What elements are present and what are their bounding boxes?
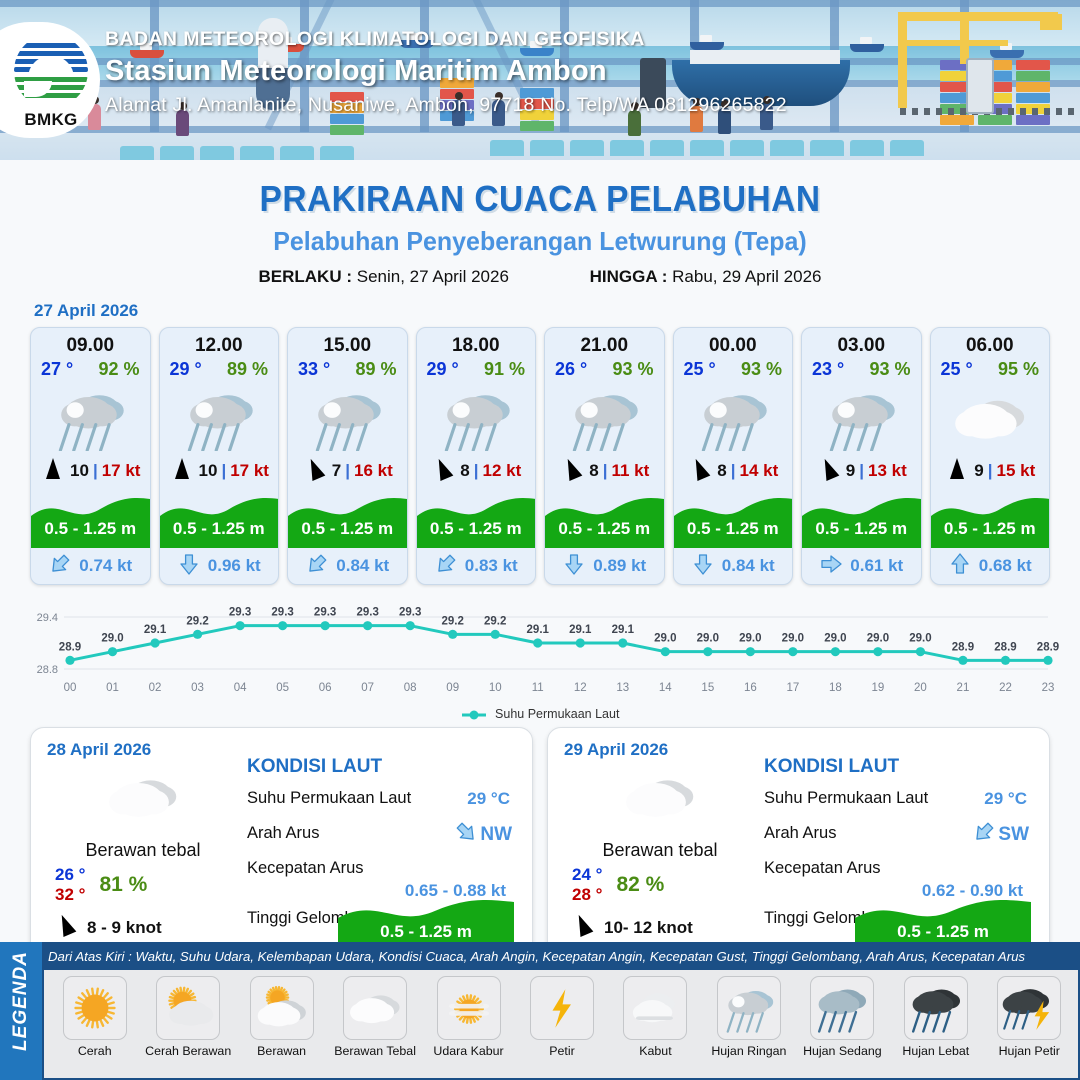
wave-height-block: 0.5 - 1.25 m bbox=[417, 486, 536, 548]
legend-item-label: Hujan Sedang bbox=[796, 1044, 889, 1058]
weather-icon-berawan-tebal bbox=[931, 380, 1050, 456]
legend-icon-hujan-petir bbox=[997, 976, 1061, 1040]
svg-text:21: 21 bbox=[957, 682, 970, 694]
card-temperature: 27 ° bbox=[41, 359, 73, 380]
svg-text:29.1: 29.1 bbox=[612, 624, 635, 636]
current-speed: 0.84 kt bbox=[336, 556, 389, 576]
wave-height-block: 0.5 - 1.25 m bbox=[288, 486, 407, 548]
wind-speed: 8 bbox=[460, 461, 469, 481]
header-address: Alamat Jl. Amanlanite, Nusaniwe, Ambon, … bbox=[105, 94, 787, 117]
hingga-value: Rabu, 29 April 2026 bbox=[672, 267, 821, 286]
gust-speed: 16 kt bbox=[354, 461, 393, 481]
wind-direction-arrow-icon bbox=[944, 459, 970, 484]
card-humidity: 91 % bbox=[484, 359, 525, 380]
legend-icon-hujan-sedang bbox=[810, 976, 874, 1040]
current-direction-arrow-icon bbox=[305, 552, 329, 581]
sea-condition-title: KONDISI LAUT bbox=[247, 756, 516, 778]
svg-text:29.0: 29.0 bbox=[654, 633, 676, 645]
card-temperature: 23 ° bbox=[812, 359, 844, 380]
weather-icon-hujan-ringan bbox=[802, 380, 921, 456]
current-direction-arrow-icon bbox=[562, 552, 586, 581]
svg-text:17: 17 bbox=[786, 682, 799, 694]
daily-temp-max: 32 ° bbox=[55, 885, 85, 905]
legend-item-label: Hujan Ringan bbox=[702, 1044, 795, 1058]
card-time: 06.00 bbox=[931, 328, 1050, 357]
legend-icon-berawan-tebal bbox=[343, 976, 407, 1040]
weather-icon-hujan-ringan bbox=[545, 380, 664, 456]
page-subtitle: Pelabuhan Penyeberangan Letwurung (Tepa) bbox=[22, 226, 1059, 257]
section-date: 27 April 2026 bbox=[34, 301, 1080, 321]
wind-speed: 9 bbox=[974, 461, 983, 481]
svg-text:28.9: 28.9 bbox=[952, 641, 974, 653]
daily-temp-min: 26 ° bbox=[55, 865, 85, 885]
wind-speed: 10 bbox=[199, 461, 218, 481]
daily-wave-block: 0.5 - 1.25 m bbox=[338, 890, 514, 950]
wind-direction-arrow-icon bbox=[40, 459, 66, 484]
legend-item-label: Berawan Tebal bbox=[328, 1044, 421, 1058]
header-station: Stasiun Meteorologi Maritim Ambon bbox=[105, 55, 787, 88]
current-direction-arrow-icon bbox=[454, 820, 478, 849]
wind-direction-arrow-icon bbox=[570, 915, 596, 940]
current-direction-value: SW bbox=[998, 824, 1029, 846]
current-direction-arrow-icon bbox=[972, 820, 996, 849]
legend-bar: LEGENDA Dari Atas Kiri : Waktu, Suhu Uda… bbox=[0, 942, 1080, 1080]
bmkg-logo-circle bbox=[14, 34, 88, 108]
card-temperature: 29 ° bbox=[170, 359, 202, 380]
wind-direction-arrow-icon bbox=[559, 459, 585, 484]
page-title: PRAKIRAAN CUACA PELABUHAN bbox=[38, 178, 1042, 220]
legend-icon-petir bbox=[530, 976, 594, 1040]
svg-text:12: 12 bbox=[574, 682, 587, 694]
legend-item: Hujan Petir bbox=[983, 976, 1076, 1058]
daily-wind-speed: 8 - 9 knot bbox=[87, 918, 162, 938]
svg-text:07: 07 bbox=[361, 682, 374, 694]
berlaku-value: Senin, 27 April 2026 bbox=[357, 267, 509, 286]
daily-condition: Berawan tebal bbox=[564, 840, 756, 861]
weather-icon-hujan-ringan bbox=[160, 380, 279, 456]
wave-height-value: 0.5 - 1.25 m bbox=[545, 519, 664, 539]
current-speed: 0.89 kt bbox=[593, 556, 646, 576]
gust-speed: 14 kt bbox=[739, 461, 778, 481]
legend-item-label: Kabut bbox=[609, 1044, 702, 1058]
hourly-card: 00.00 25 ° 93 % 8 | 14 kt 0.5 - 1.25 m bbox=[673, 327, 794, 585]
svg-text:29.2: 29.2 bbox=[442, 615, 464, 627]
wave-height-block: 0.5 - 1.25 m bbox=[802, 486, 921, 548]
hingga-label: HINGGA : bbox=[590, 267, 668, 286]
gust-speed: 11 kt bbox=[611, 461, 649, 481]
card-humidity: 95 % bbox=[998, 359, 1039, 380]
current-direction-arrow-icon bbox=[819, 552, 843, 581]
legend-items: Cerah Cerah Berawan Berawan Berawan Teba… bbox=[44, 970, 1078, 1078]
hourly-card: 12.00 29 ° 89 % 10 | 17 kt 0.5 - 1.25 m bbox=[159, 327, 280, 585]
legend-icon-hujan-ringan bbox=[717, 976, 781, 1040]
current-speed-label: Kecepatan Arus bbox=[247, 859, 364, 877]
legend-icon-cerah-berawan bbox=[156, 976, 220, 1040]
daily-wave-value: 0.5 - 1.25 m bbox=[855, 922, 1031, 942]
svg-text:28.9: 28.9 bbox=[1037, 641, 1059, 653]
wind-separator: | bbox=[474, 461, 479, 481]
wind-speed: 8 bbox=[589, 461, 598, 481]
wave-height-block: 0.5 - 1.25 m bbox=[160, 486, 279, 548]
hourly-card: 21.00 26 ° 93 % 8 | 11 kt 0.5 - 1.25 m bbox=[544, 327, 665, 585]
legend-icon-kabut bbox=[623, 976, 687, 1040]
svg-text:16: 16 bbox=[744, 682, 757, 694]
legend-icon-cerah bbox=[63, 976, 127, 1040]
card-humidity: 89 % bbox=[227, 359, 268, 380]
weather-icon-hujan-ringan bbox=[674, 380, 793, 456]
legend-icon-berawan bbox=[250, 976, 314, 1040]
chart-legend-label: Suhu Permukaan Laut bbox=[495, 707, 619, 721]
svg-text:09: 09 bbox=[446, 682, 459, 694]
svg-text:19: 19 bbox=[872, 682, 885, 694]
weather-icon-berawan-tebal bbox=[47, 766, 239, 828]
card-humidity: 93 % bbox=[612, 359, 653, 380]
wind-direction-arrow-icon bbox=[687, 459, 713, 484]
current-direction-arrow-icon bbox=[691, 552, 715, 581]
legend-icon-udara-kabur bbox=[437, 976, 501, 1040]
legend-item-label: Cerah Berawan bbox=[141, 1044, 234, 1058]
svg-text:10: 10 bbox=[489, 682, 502, 694]
wind-separator: | bbox=[731, 461, 736, 481]
card-time: 12.00 bbox=[160, 328, 279, 357]
card-temperature: 25 ° bbox=[684, 359, 716, 380]
legend-item: Hujan Lebat bbox=[889, 976, 982, 1058]
card-temperature: 25 ° bbox=[941, 359, 973, 380]
wind-speed: 7 bbox=[332, 461, 341, 481]
daily-humidity: 82 % bbox=[616, 873, 664, 897]
svg-text:15: 15 bbox=[701, 682, 714, 694]
card-humidity: 93 % bbox=[741, 359, 782, 380]
svg-text:18: 18 bbox=[829, 682, 842, 694]
daily-wave-block: 0.5 - 1.25 m bbox=[855, 890, 1031, 950]
legend-item-label: Petir bbox=[515, 1044, 608, 1058]
wind-speed: 10 bbox=[70, 461, 89, 481]
legend-item-label: Hujan Petir bbox=[983, 1044, 1076, 1058]
svg-text:29.2: 29.2 bbox=[186, 615, 208, 627]
svg-text:04: 04 bbox=[234, 682, 247, 694]
card-time: 21.00 bbox=[545, 328, 664, 357]
current-direction-label: Arah Arus bbox=[247, 824, 319, 842]
card-time: 03.00 bbox=[802, 328, 921, 357]
wind-separator: | bbox=[603, 461, 608, 481]
card-time: 09.00 bbox=[31, 328, 150, 357]
card-humidity: 92 % bbox=[98, 359, 139, 380]
svg-text:29.0: 29.0 bbox=[739, 633, 761, 645]
card-time: 15.00 bbox=[288, 328, 407, 357]
svg-text:28.9: 28.9 bbox=[59, 641, 81, 653]
hourly-card: 06.00 25 ° 95 % 9 | 15 kt 0.5 - 1.25 m bbox=[930, 327, 1051, 585]
berlaku-label: BERLAKU : bbox=[259, 267, 353, 286]
daily-forecast-card: 28 April 2026 Berawan tebal 26 ° 32 ° 81… bbox=[30, 727, 533, 967]
svg-text:29.3: 29.3 bbox=[271, 607, 293, 619]
weather-icon-hujan-ringan bbox=[417, 380, 536, 456]
gust-speed: 15 kt bbox=[996, 461, 1035, 481]
sea-condition-title: KONDISI LAUT bbox=[764, 756, 1033, 778]
svg-text:20: 20 bbox=[914, 682, 927, 694]
wind-direction-arrow-icon bbox=[816, 459, 842, 484]
wind-separator: | bbox=[345, 461, 350, 481]
svg-text:03: 03 bbox=[191, 682, 204, 694]
sst-label: Suhu Permukaan Laut bbox=[764, 789, 928, 807]
legend-icon-hujan-lebat bbox=[904, 976, 968, 1040]
legend-tab: LEGENDA bbox=[0, 942, 42, 1080]
svg-text:06: 06 bbox=[319, 682, 332, 694]
card-temperature: 26 ° bbox=[555, 359, 587, 380]
gust-speed: 17 kt bbox=[102, 461, 141, 481]
wave-height-value: 0.5 - 1.25 m bbox=[31, 519, 150, 539]
svg-text:29.0: 29.0 bbox=[824, 633, 846, 645]
daily-wind-speed: 10- 12 knot bbox=[604, 918, 693, 938]
wind-direction-arrow-icon bbox=[53, 915, 79, 940]
wave-height-block: 0.5 - 1.25 m bbox=[674, 486, 793, 548]
current-direction-value: NW bbox=[480, 824, 512, 846]
validity-row: BERLAKU : Senin, 27 April 2026 HINGGA : … bbox=[0, 267, 1080, 287]
svg-text:01: 01 bbox=[106, 682, 119, 694]
hourly-forecast-row: 09.00 27 ° 92 % 10 | 17 kt 0.5 - 1.25 m bbox=[0, 321, 1080, 585]
legend-item: Hujan Ringan bbox=[702, 976, 795, 1058]
legend-item: Cerah bbox=[48, 976, 141, 1058]
daily-condition: Berawan tebal bbox=[47, 840, 239, 861]
legend-tab-label: LEGENDA bbox=[10, 938, 32, 1064]
hourly-card: 15.00 33 ° 89 % 7 | 16 kt 0.5 - 1.25 m bbox=[287, 327, 408, 585]
svg-text:28.8: 28.8 bbox=[37, 664, 58, 676]
hourly-card: 03.00 23 ° 93 % 9 | 13 kt 0.5 - 1.25 m bbox=[801, 327, 922, 585]
daily-temp-max: 28 ° bbox=[572, 885, 602, 905]
svg-text:29.0: 29.0 bbox=[909, 633, 931, 645]
svg-text:29.0: 29.0 bbox=[101, 633, 123, 645]
svg-text:29.0: 29.0 bbox=[867, 633, 889, 645]
legend-item: Hujan Sedang bbox=[796, 976, 889, 1058]
wave-height-block: 0.5 - 1.25 m bbox=[545, 486, 664, 548]
chart-legend: Suhu Permukaan Laut bbox=[0, 707, 1080, 721]
svg-text:29.1: 29.1 bbox=[144, 624, 167, 636]
sst-chart: 29.428.828.929.029.129.229.329.329.329.3… bbox=[12, 595, 1068, 705]
card-time: 18.00 bbox=[417, 328, 536, 357]
current-speed: 0.96 kt bbox=[208, 556, 261, 576]
svg-text:29.3: 29.3 bbox=[314, 607, 336, 619]
svg-text:23: 23 bbox=[1042, 682, 1055, 694]
wave-height-value: 0.5 - 1.25 m bbox=[417, 519, 536, 539]
bmkg-logo: BMKG bbox=[0, 22, 100, 138]
wind-separator: | bbox=[988, 461, 993, 481]
svg-text:29.0: 29.0 bbox=[697, 633, 719, 645]
svg-text:29.2: 29.2 bbox=[484, 615, 506, 627]
sst-label: Suhu Permukaan Laut bbox=[247, 789, 411, 807]
bmkg-logo-text: BMKG bbox=[6, 110, 96, 130]
legend-item: Petir bbox=[515, 976, 608, 1058]
svg-text:11: 11 bbox=[532, 682, 544, 694]
daily-forecast-row: 28 April 2026 Berawan tebal 26 ° 32 ° 81… bbox=[0, 721, 1080, 967]
wave-height-value: 0.5 - 1.25 m bbox=[288, 519, 407, 539]
current-speed: 0.84 kt bbox=[722, 556, 775, 576]
weather-icon-berawan-tebal bbox=[564, 766, 756, 828]
wave-height-block: 0.5 - 1.25 m bbox=[31, 486, 150, 548]
legend-note: Dari Atas Kiri : Waktu, Suhu Udara, Kele… bbox=[48, 949, 1074, 964]
card-humidity: 89 % bbox=[355, 359, 396, 380]
current-speed: 0.68 kt bbox=[979, 556, 1032, 576]
svg-text:29.4: 29.4 bbox=[37, 612, 58, 624]
wind-direction-arrow-icon bbox=[430, 459, 456, 484]
current-speed: 0.83 kt bbox=[465, 556, 518, 576]
svg-text:28.9: 28.9 bbox=[994, 641, 1016, 653]
current-direction-arrow-icon bbox=[948, 552, 972, 581]
page-header: BMKG BADAN METEOROLOGI KLIMATOLOGI DAN G… bbox=[0, 0, 1080, 160]
daily-temp-min: 24 ° bbox=[572, 865, 602, 885]
current-speed-label: Kecepatan Arus bbox=[764, 859, 881, 877]
sst-value: 29 °C bbox=[984, 789, 1027, 809]
header-agency: BADAN METEOROLOGI KLIMATOLOGI DAN GEOFIS… bbox=[105, 28, 787, 51]
gust-speed: 13 kt bbox=[868, 461, 907, 481]
wave-height-value: 0.5 - 1.25 m bbox=[931, 519, 1050, 539]
sst-value: 29 °C bbox=[467, 789, 510, 809]
legend-item-label: Udara Kabur bbox=[422, 1044, 515, 1058]
wind-separator: | bbox=[93, 461, 98, 481]
svg-text:29.1: 29.1 bbox=[527, 624, 550, 636]
card-temperature: 33 ° bbox=[298, 359, 330, 380]
legend-item: Udara Kabur bbox=[422, 976, 515, 1058]
legend-item: Berawan Tebal bbox=[328, 976, 421, 1058]
wind-direction-arrow-icon bbox=[169, 459, 195, 484]
wave-height-value: 0.5 - 1.25 m bbox=[160, 519, 279, 539]
legend-item: Berawan bbox=[235, 976, 328, 1058]
svg-text:29.1: 29.1 bbox=[569, 624, 592, 636]
daily-wave-value: 0.5 - 1.25 m bbox=[338, 922, 514, 942]
legend-item: Cerah Berawan bbox=[141, 976, 234, 1058]
daily-humidity: 81 % bbox=[99, 873, 147, 897]
hourly-card: 18.00 29 ° 91 % 8 | 12 kt 0.5 - 1.25 m bbox=[416, 327, 537, 585]
card-temperature: 29 ° bbox=[427, 359, 459, 380]
wind-separator: | bbox=[859, 461, 864, 481]
gust-speed: 12 kt bbox=[482, 461, 521, 481]
svg-text:00: 00 bbox=[64, 682, 77, 694]
current-speed: 0.61 kt bbox=[850, 556, 903, 576]
svg-text:29.3: 29.3 bbox=[399, 607, 421, 619]
card-time: 00.00 bbox=[674, 328, 793, 357]
chart-legend-marker bbox=[461, 710, 487, 720]
current-direction-arrow-icon bbox=[177, 552, 201, 581]
legend-item-label: Berawan bbox=[235, 1044, 328, 1058]
svg-text:29.0: 29.0 bbox=[782, 633, 804, 645]
daily-date: 28 April 2026 bbox=[47, 740, 239, 760]
wave-height-block: 0.5 - 1.25 m bbox=[931, 486, 1050, 548]
svg-text:29.3: 29.3 bbox=[356, 607, 378, 619]
gust-speed: 17 kt bbox=[230, 461, 269, 481]
current-direction-arrow-icon bbox=[48, 552, 72, 581]
sst-chart-svg: 29.428.828.929.029.129.229.329.329.329.3… bbox=[12, 595, 1068, 705]
legend-item: Kabut bbox=[609, 976, 702, 1058]
wind-speed: 9 bbox=[846, 461, 855, 481]
svg-text:29.3: 29.3 bbox=[229, 607, 251, 619]
svg-text:02: 02 bbox=[149, 682, 162, 694]
wave-height-value: 0.5 - 1.25 m bbox=[802, 519, 921, 539]
wind-speed: 8 bbox=[717, 461, 726, 481]
wind-separator: | bbox=[221, 461, 226, 481]
svg-text:08: 08 bbox=[404, 682, 417, 694]
weather-icon-hujan-ringan bbox=[31, 380, 150, 456]
current-direction-label: Arah Arus bbox=[764, 824, 836, 842]
svg-text:13: 13 bbox=[616, 682, 629, 694]
svg-text:22: 22 bbox=[999, 682, 1012, 694]
svg-text:05: 05 bbox=[276, 682, 289, 694]
daily-forecast-card: 29 April 2026 Berawan tebal 24 ° 28 ° 82… bbox=[547, 727, 1050, 967]
legend-item-label: Hujan Lebat bbox=[889, 1044, 982, 1058]
current-speed: 0.74 kt bbox=[79, 556, 132, 576]
wave-height-value: 0.5 - 1.25 m bbox=[674, 519, 793, 539]
daily-date: 29 April 2026 bbox=[564, 740, 756, 760]
legend-item-label: Cerah bbox=[48, 1044, 141, 1058]
card-humidity: 93 % bbox=[869, 359, 910, 380]
current-direction-arrow-icon bbox=[434, 552, 458, 581]
weather-icon-hujan-ringan bbox=[288, 380, 407, 456]
hourly-card: 09.00 27 ° 92 % 10 | 17 kt 0.5 - 1.25 m bbox=[30, 327, 151, 585]
wind-direction-arrow-icon bbox=[302, 459, 328, 484]
svg-text:14: 14 bbox=[659, 682, 672, 694]
